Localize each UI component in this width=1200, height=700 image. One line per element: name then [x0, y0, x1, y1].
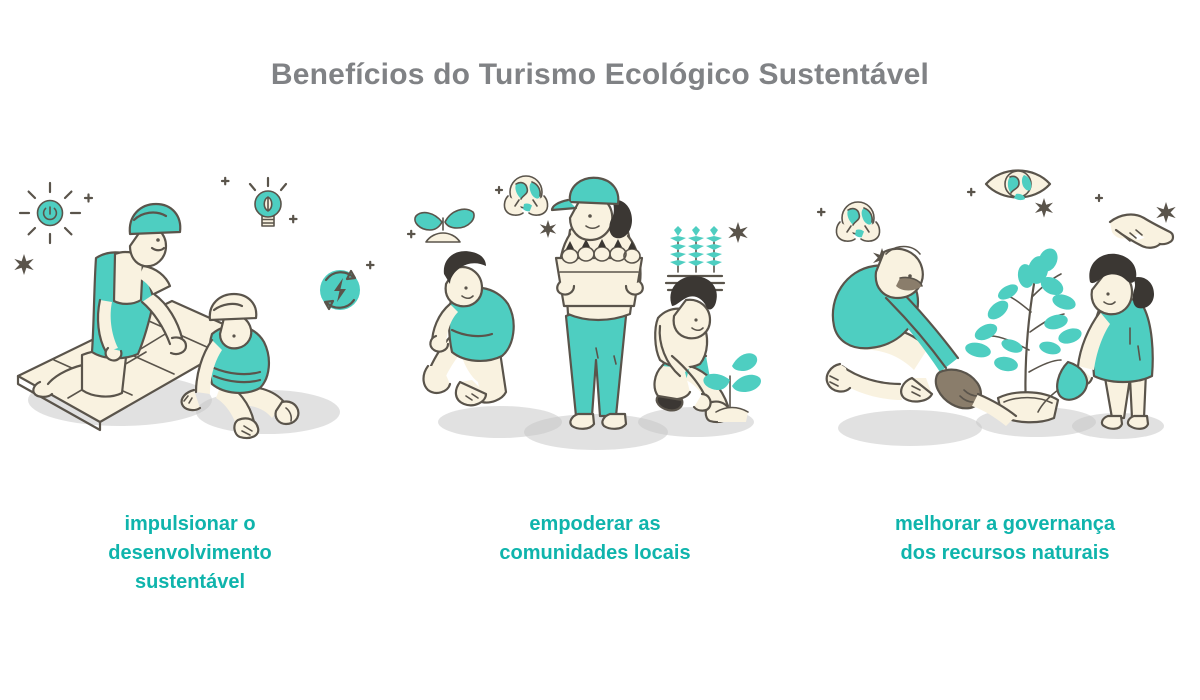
- eye-globe-icon: [986, 171, 1050, 201]
- infographic-root: Benefícios do Turismo Ecológico Sustentá…: [0, 0, 1200, 700]
- panel-caption: empoderar as comunidades locais: [470, 510, 720, 568]
- handshake-icon: [1110, 215, 1173, 248]
- sparkle-asterisk-icon: [14, 254, 33, 275]
- woman-with-produce-crate: [552, 178, 643, 429]
- panel-caption: melhorar a governança dos recursos natur…: [880, 510, 1130, 568]
- kneeling-man: [424, 251, 514, 405]
- title-bar: Benefícios do Turismo Ecológico Sustentá…: [0, 0, 1200, 150]
- page-title: Benefícios do Turismo Ecológico Sustentá…: [271, 58, 929, 92]
- globe-in-hands-icon: [836, 202, 879, 241]
- lightbulb-leaf-icon: [250, 178, 286, 226]
- sun-power-icon: [20, 183, 80, 243]
- tree-planting-stewardship-illustration: .ink3 { fill:none; stroke:#5A544B; strok…: [800, 150, 1200, 470]
- panel-row: .ink { fill:none; stroke:#5A544B; stroke…: [0, 150, 1200, 700]
- panel-caption: impulsionar o desenvolvimento sustentáve…: [65, 510, 315, 597]
- seedling-sprout-icon: [415, 209, 474, 242]
- benefit-panel-3: .ink3 { fill:none; stroke:#5A544B; strok…: [800, 150, 1200, 568]
- ground-shadow: [838, 410, 982, 446]
- plus-sparkle-icon: [85, 195, 92, 202]
- solar-panel-installation-illustration: .ink { fill:none; stroke:#5A544B; stroke…: [0, 150, 400, 470]
- energy-recycle-icon: [320, 270, 360, 310]
- globe-in-hands-icon: [504, 176, 547, 215]
- benefit-panel-1: .ink { fill:none; stroke:#5A544B; stroke…: [0, 150, 400, 597]
- plus-sparkle-icon: [367, 262, 374, 269]
- local-community-farming-illustration: .ink2 { fill:none; stroke:#5A544B; strok…: [400, 150, 800, 470]
- seated-woman-planting: [655, 276, 761, 422]
- benefit-panel-2: .ink2 { fill:none; stroke:#5A544B; strok…: [400, 150, 800, 568]
